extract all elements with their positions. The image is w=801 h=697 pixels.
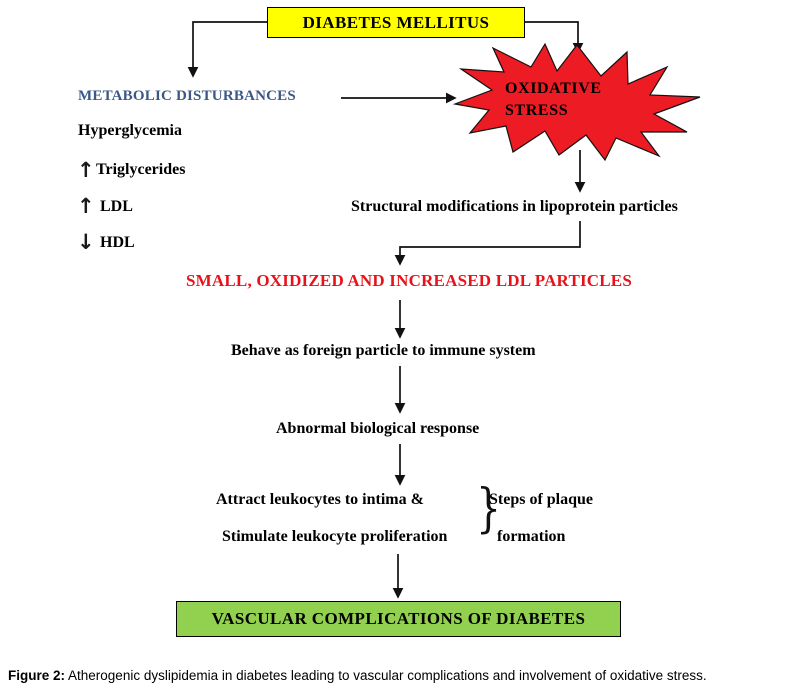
abnormal-biological-response-label: Abnormal biological response bbox=[276, 420, 479, 438]
figure-caption-text: Atherogenic dyslipidemia in diabetes lea… bbox=[65, 668, 707, 683]
attract-leukocytes-label: Attract leukocytes to intima & bbox=[216, 491, 424, 509]
behave-foreign-particle-label: Behave as foreign particle to immune sys… bbox=[231, 342, 536, 360]
oxidative-stress-line2: STRESS bbox=[505, 100, 645, 122]
edge-diabetes-to-metabolic bbox=[193, 22, 267, 76]
up-arrow-icon-triglycerides: ↑ bbox=[77, 160, 95, 181]
triglycerides-label: Triglycerides bbox=[96, 161, 185, 179]
up-arrow-icon-ldl: ↑ bbox=[77, 196, 95, 217]
figure-canvas: DIABETES MELLITUS VASCULAR COMPLICATIONS… bbox=[0, 0, 801, 697]
diabetes-mellitus-box: DIABETES MELLITUS bbox=[267, 7, 525, 38]
structural-modifications-label: Structural modifications in lipoprotein … bbox=[351, 198, 678, 216]
hyperglycemia-label: Hyperglycemia bbox=[78, 122, 182, 140]
formation-label: formation bbox=[497, 528, 565, 546]
vascular-complications-label: VASCULAR COMPLICATIONS OF DIABETES bbox=[212, 609, 586, 629]
figure-caption-label: Figure 2: bbox=[8, 668, 65, 683]
small-oxidized-ldl-particles-label: SMALL, OXIDIZED AND INCREASED LDL PARTIC… bbox=[186, 271, 632, 291]
hdl-label: HDL bbox=[100, 234, 135, 252]
metabolic-disturbances-label: METABOLIC DISTURBANCES bbox=[78, 88, 296, 105]
stimulate-leukocyte-proliferation-label: Stimulate leukocyte proliferation bbox=[222, 528, 447, 546]
edge-structural-to-ldl-particles bbox=[400, 221, 580, 264]
edge-diabetes-to-oxidative bbox=[525, 22, 578, 52]
ldl-label: LDL bbox=[100, 198, 133, 216]
figure-caption: Figure 2: Atherogenic dyslipidemia in di… bbox=[8, 668, 798, 683]
diabetes-mellitus-label: DIABETES MELLITUS bbox=[303, 13, 490, 33]
oxidative-stress-line1: OXIDATIVE bbox=[505, 78, 645, 100]
down-arrow-icon-hdl: ↓ bbox=[77, 232, 95, 253]
vascular-complications-box: VASCULAR COMPLICATIONS OF DIABETES bbox=[176, 601, 621, 637]
oxidative-stress-text-block: OXIDATIVE STRESS bbox=[505, 78, 645, 121]
steps-of-plaque-label: Steps of plaque bbox=[489, 491, 593, 509]
